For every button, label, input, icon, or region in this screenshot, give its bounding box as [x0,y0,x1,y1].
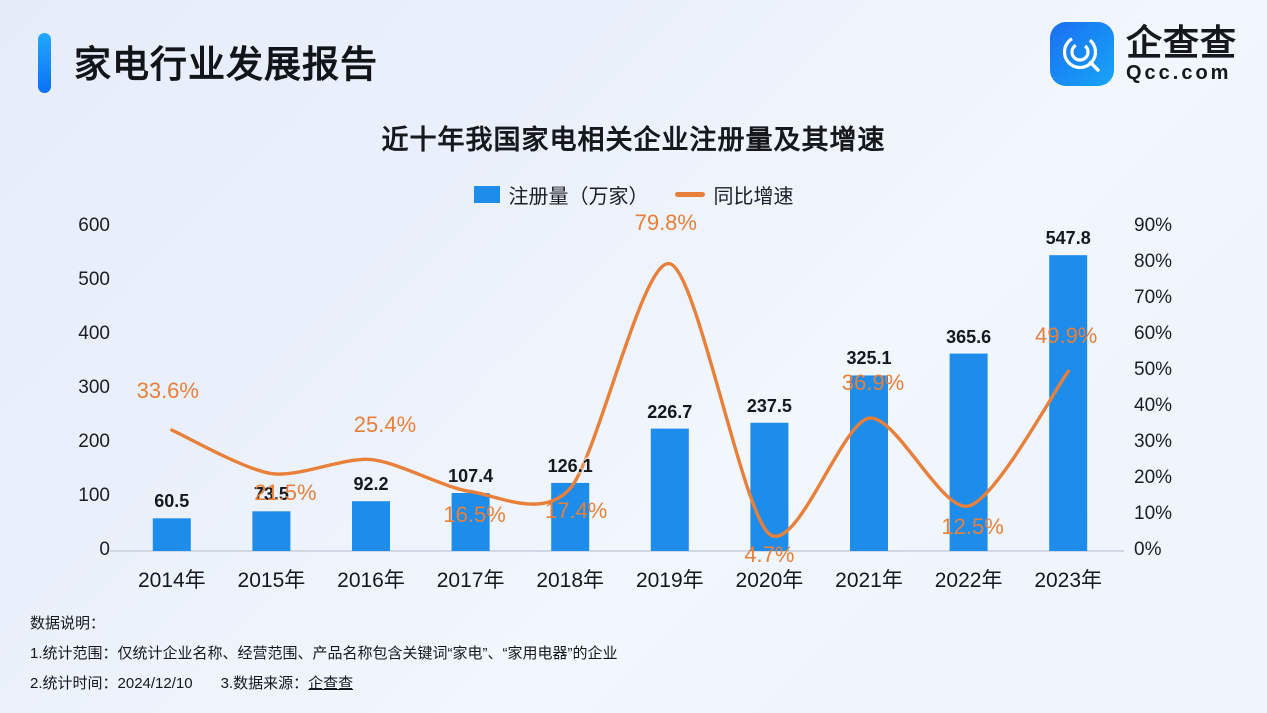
line-value-label: 25.4% [325,412,445,438]
y-axis-left-tick: 0 [40,539,110,561]
y-axis-left-tick: 500 [40,269,110,291]
page-title: 家电行业发展报告 [74,34,378,88]
chart-plot-area [0,0,1267,713]
chart-bar [850,375,888,551]
y-axis-right-tick: 30% [1134,431,1172,453]
chart-bar [352,501,390,551]
legend-bar-label: 注册量（万家） [509,180,649,209]
footnote-time-value: 2024/12/10 [118,675,193,692]
y-axis-right-tick: 10% [1134,503,1172,525]
chart-bar [1049,255,1087,551]
line-value-label: 21.5% [225,480,345,506]
chart-legend: 注册量（万家） 同比增速 [0,180,1267,209]
footnote-time-label: 2.统计时间： [30,675,118,692]
footnote-heading: 数据说明： [30,609,618,639]
footnotes: 数据说明： 1.统计范围：仅统计企业名称、经营范围、产品名称包含关键词“家电”、… [30,609,618,699]
chart-title: 近十年我国家电相关企业注册量及其增速 [0,118,1267,157]
line-value-label: 49.9% [1006,323,1126,349]
footnote-source-value[interactable]: 企查查 [308,675,353,692]
line-value-label: 4.7% [709,542,829,568]
y-axis-left-tick: 100 [40,485,110,507]
y-axis-right-tick: 70% [1134,287,1172,309]
chart-bar [651,429,689,551]
legend-item-bar[interactable]: 注册量（万家） [474,180,649,209]
legend-line-swatch-icon [675,192,705,197]
line-value-label: 17.4% [516,498,636,524]
header-accent-bar [38,33,51,93]
footnote-scope: 1.统计范围：仅统计企业名称、经营范围、产品名称包含关键词“家电”、“家用电器”… [30,639,618,669]
line-value-label: 36.9% [813,370,933,396]
bar-value-label: 237.5 [709,396,829,417]
qcc-logo: 企查查 Qcc.com [1050,22,1237,86]
y-axis-left-tick: 600 [40,215,110,237]
y-axis-right-tick: 50% [1134,359,1172,381]
legend-line-label: 同比增速 [714,180,794,209]
bar-value-label: 547.8 [1008,228,1128,249]
legend-bar-swatch-icon [474,186,500,203]
chart-bar [750,423,788,551]
y-axis-right-tick: 20% [1134,467,1172,489]
legend-item-line[interactable]: 同比增速 [675,180,794,209]
chart-bar [252,511,290,551]
y-axis-right-tick: 40% [1134,395,1172,417]
footnote-source-label: 3.数据来源： [221,675,309,692]
y-axis-left-tick: 300 [40,377,110,399]
logo-name-en: Qcc.com [1126,62,1237,84]
x-axis-tick-2023年: 2023年 [1008,564,1128,594]
y-axis-left-tick: 200 [40,431,110,453]
bar-value-label: 325.1 [809,348,929,369]
y-axis-left-tick: 400 [40,323,110,345]
y-axis-right-tick: 0% [1134,539,1161,561]
y-axis-right-tick: 80% [1134,251,1172,273]
qcc-logo-icon [1050,22,1114,86]
y-axis-right-tick: 60% [1134,323,1172,345]
line-value-label: 12.5% [913,514,1033,540]
line-value-label: 33.6% [108,378,228,404]
footnote-time-source: 2.统计时间：2024/12/103.数据来源：企查查 [30,669,618,699]
logo-name-cn: 企查查 [1126,24,1237,61]
line-value-label: 79.8% [606,210,726,236]
bar-value-label: 126.1 [510,456,630,477]
y-axis-right-tick: 90% [1134,215,1172,237]
chart-bar [153,518,191,551]
